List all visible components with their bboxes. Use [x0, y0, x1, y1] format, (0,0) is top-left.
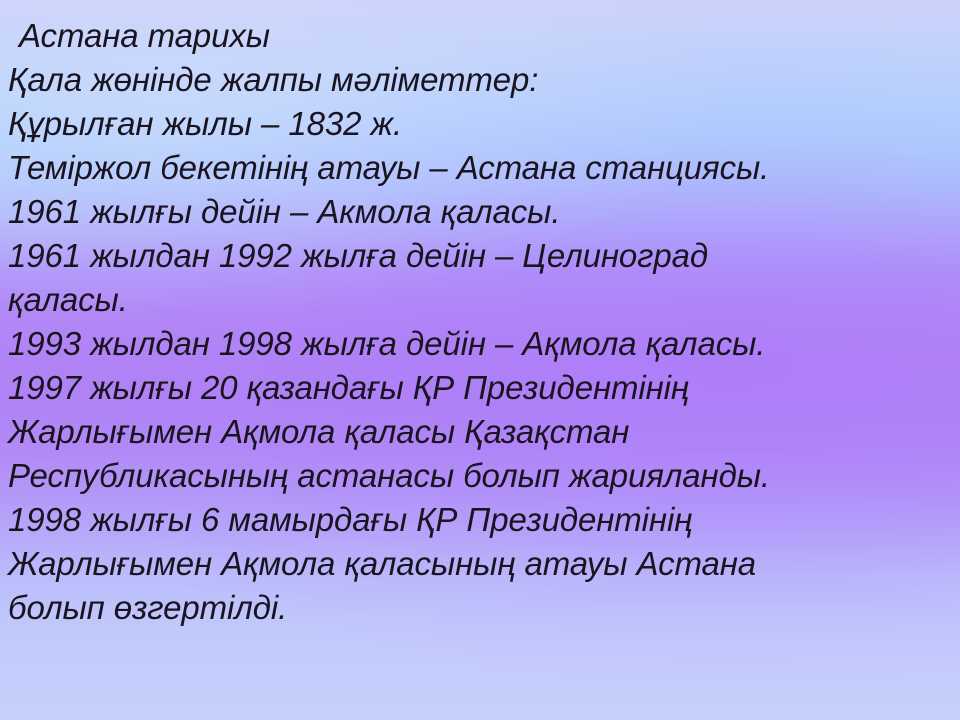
slide-line-1998-decree-end: болып өзгертілді. [0, 586, 960, 630]
slide-line-until-1961: 1961 жылғы дейін – Акмола қаласы. [0, 190, 960, 234]
slide-line-1997-decree-intro: 1997 жылғы 20 қазандағы ҚР Президентінің [0, 366, 960, 410]
slide-line-railway-station-name: Теміржол бекетінің атауы – Астана станци… [0, 146, 960, 190]
slide-line-founding-year: Құрылған жылы – 1832 ж. [0, 102, 960, 146]
slide-line-1998-decree-intro: 1998 жылғы 6 мамырдағы ҚР Президентінің [0, 498, 960, 542]
slide-line-1961-to-1992: 1961 жылдан 1992 жылға дейін – Целиногра… [0, 234, 960, 278]
slide-title: Астана тарихы [0, 14, 960, 58]
slide-text-body: Астана тарихы Қала жөнінде жалпы мәлімет… [0, 0, 960, 630]
slide-line-1997-decree-end: Республикасының астанасы болып жарияланд… [0, 454, 960, 498]
slide-line-1997-decree-body: Жарлығымен Ақмола қаласы Қазақстан [0, 410, 960, 454]
presentation-slide: Астана тарихы Қала жөнінде жалпы мәлімет… [0, 0, 960, 720]
slide-line-1993-to-1998: 1993 жылдан 1998 жылға дейін – Ақмола қа… [0, 322, 960, 366]
slide-line-general-info-heading: Қала жөнінде жалпы мәліметтер: [0, 58, 960, 102]
slide-line-1961-to-1992-wrap: қаласы. [0, 278, 960, 322]
slide-line-1998-decree-body: Жарлығымен Ақмола қаласының атауы Астана [0, 542, 960, 586]
